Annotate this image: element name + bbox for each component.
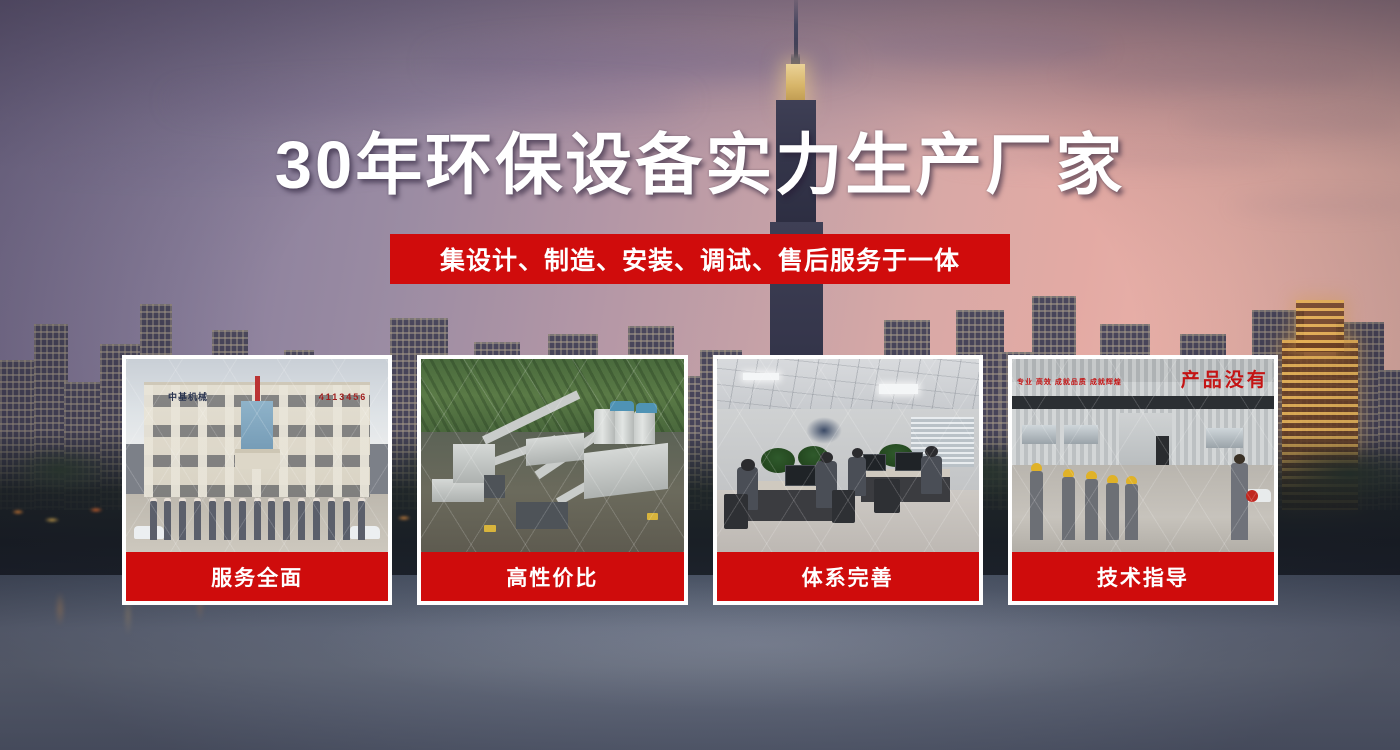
feature-card-guidance[interactable]: 产品没有 专业 高效 成就品质 成就辉煌 bbox=[1008, 355, 1278, 605]
page-title: 30年环保设备实力生产厂家 bbox=[0, 132, 1400, 199]
photo-person bbox=[164, 498, 171, 540]
photo-wall-decal bbox=[806, 417, 843, 444]
photo-chair bbox=[874, 479, 900, 514]
card-photo-office bbox=[717, 359, 979, 552]
photo-excavator bbox=[484, 525, 496, 532]
photo-silo bbox=[594, 409, 615, 444]
card-label: 高性价比 bbox=[421, 552, 683, 601]
photo-worker bbox=[1106, 483, 1119, 541]
card-label: 体系完善 bbox=[717, 552, 979, 601]
photo-hardhat-icon bbox=[1126, 476, 1137, 484]
photo-person bbox=[283, 498, 290, 540]
photo-company-sign: 中基机械 bbox=[168, 388, 257, 405]
photo-shed bbox=[484, 475, 505, 498]
feature-card-service[interactable]: 中基机械 4113456 bbox=[122, 355, 392, 605]
photo-worker bbox=[1030, 471, 1043, 540]
photo-person bbox=[224, 498, 231, 540]
photo-factory-window-band bbox=[1012, 396, 1274, 410]
photo-person bbox=[209, 498, 216, 540]
photo-person bbox=[313, 498, 320, 540]
photo-person bbox=[150, 498, 157, 540]
photo-factory-window bbox=[1206, 428, 1243, 447]
photo-worker bbox=[1062, 477, 1075, 541]
card-photo-headquarters: 中基机械 4113456 bbox=[126, 359, 388, 552]
feature-card-row: 中基机械 4113456 bbox=[122, 355, 1278, 605]
photo-person bbox=[298, 498, 305, 540]
photo-red-hardhat-icon bbox=[1246, 490, 1258, 502]
photo-ceiling-light bbox=[879, 384, 918, 394]
photo-supervisor bbox=[1231, 463, 1248, 540]
subtitle-banner: 集设计、制造、安装、调试、售后服务于一体 bbox=[390, 234, 1010, 284]
photo-supervisor-head bbox=[1234, 454, 1245, 464]
photo-person bbox=[343, 498, 350, 540]
cloud-2 bbox=[1060, 58, 1360, 92]
photo-person bbox=[254, 498, 261, 540]
photo-staff-row bbox=[150, 498, 365, 540]
photo-factory-window bbox=[1064, 425, 1098, 444]
photo-silo bbox=[634, 411, 655, 444]
photo-monitor bbox=[785, 465, 816, 486]
photo-monitor bbox=[895, 452, 923, 471]
photo-ceiling-light bbox=[743, 373, 780, 381]
photo-person bbox=[268, 498, 275, 540]
photo-chair bbox=[832, 490, 856, 523]
photo-chair bbox=[724, 494, 748, 529]
photo-silo bbox=[615, 407, 633, 444]
photo-person bbox=[239, 498, 246, 540]
golden-landmark-building-upper bbox=[1296, 300, 1344, 352]
photo-worker bbox=[1085, 479, 1098, 541]
card-photo-industrial-plant bbox=[421, 359, 683, 552]
card-label: 技术指导 bbox=[1012, 552, 1274, 601]
photo-person bbox=[194, 498, 201, 540]
card-label: 服务全面 bbox=[126, 552, 388, 601]
photo-silo-cap bbox=[610, 401, 634, 411]
photo-hardhat-icon bbox=[1086, 471, 1097, 479]
photo-person-head bbox=[741, 459, 754, 471]
photo-worker bbox=[1125, 484, 1138, 540]
photo-building-entrance bbox=[235, 449, 280, 469]
feature-card-system[interactable]: 体系完善 bbox=[713, 355, 983, 605]
feature-card-value[interactable]: 高性价比 bbox=[417, 355, 687, 605]
card-photo-workers: 产品没有 专业 高效 成就品质 成就辉煌 bbox=[1012, 359, 1274, 552]
cloud-1 bbox=[860, 28, 1110, 68]
promo-banner: 30年环保设备实力生产厂家 集设计、制造、安装、调试、售后服务于一体 中基机械 … bbox=[0, 0, 1400, 750]
photo-shed bbox=[516, 502, 568, 529]
cloud-band-2 bbox=[170, 86, 690, 116]
photo-person bbox=[328, 498, 335, 540]
photo-phone-number: 4113456 bbox=[278, 388, 367, 405]
photo-person bbox=[358, 498, 365, 540]
photo-factory-door bbox=[1156, 436, 1169, 469]
photo-hardhat-icon bbox=[1031, 463, 1042, 471]
photo-excavator bbox=[647, 513, 658, 520]
photo-hardhat-icon bbox=[1063, 469, 1074, 477]
photo-monitor bbox=[863, 454, 886, 471]
photo-factory-window bbox=[1022, 425, 1056, 444]
photo-factory-slogan-large: 产品没有 bbox=[1143, 363, 1269, 394]
subtitle-text: 集设计、制造、安装、调试、售后服务于一体 bbox=[440, 241, 960, 277]
photo-silo-cap bbox=[636, 403, 657, 413]
photo-factory-slogan-small: 专业 高效 成就品质 成就辉煌 bbox=[1017, 369, 1122, 396]
photo-person bbox=[179, 498, 186, 540]
tower-antenna bbox=[794, 0, 798, 62]
photo-person bbox=[921, 456, 942, 495]
